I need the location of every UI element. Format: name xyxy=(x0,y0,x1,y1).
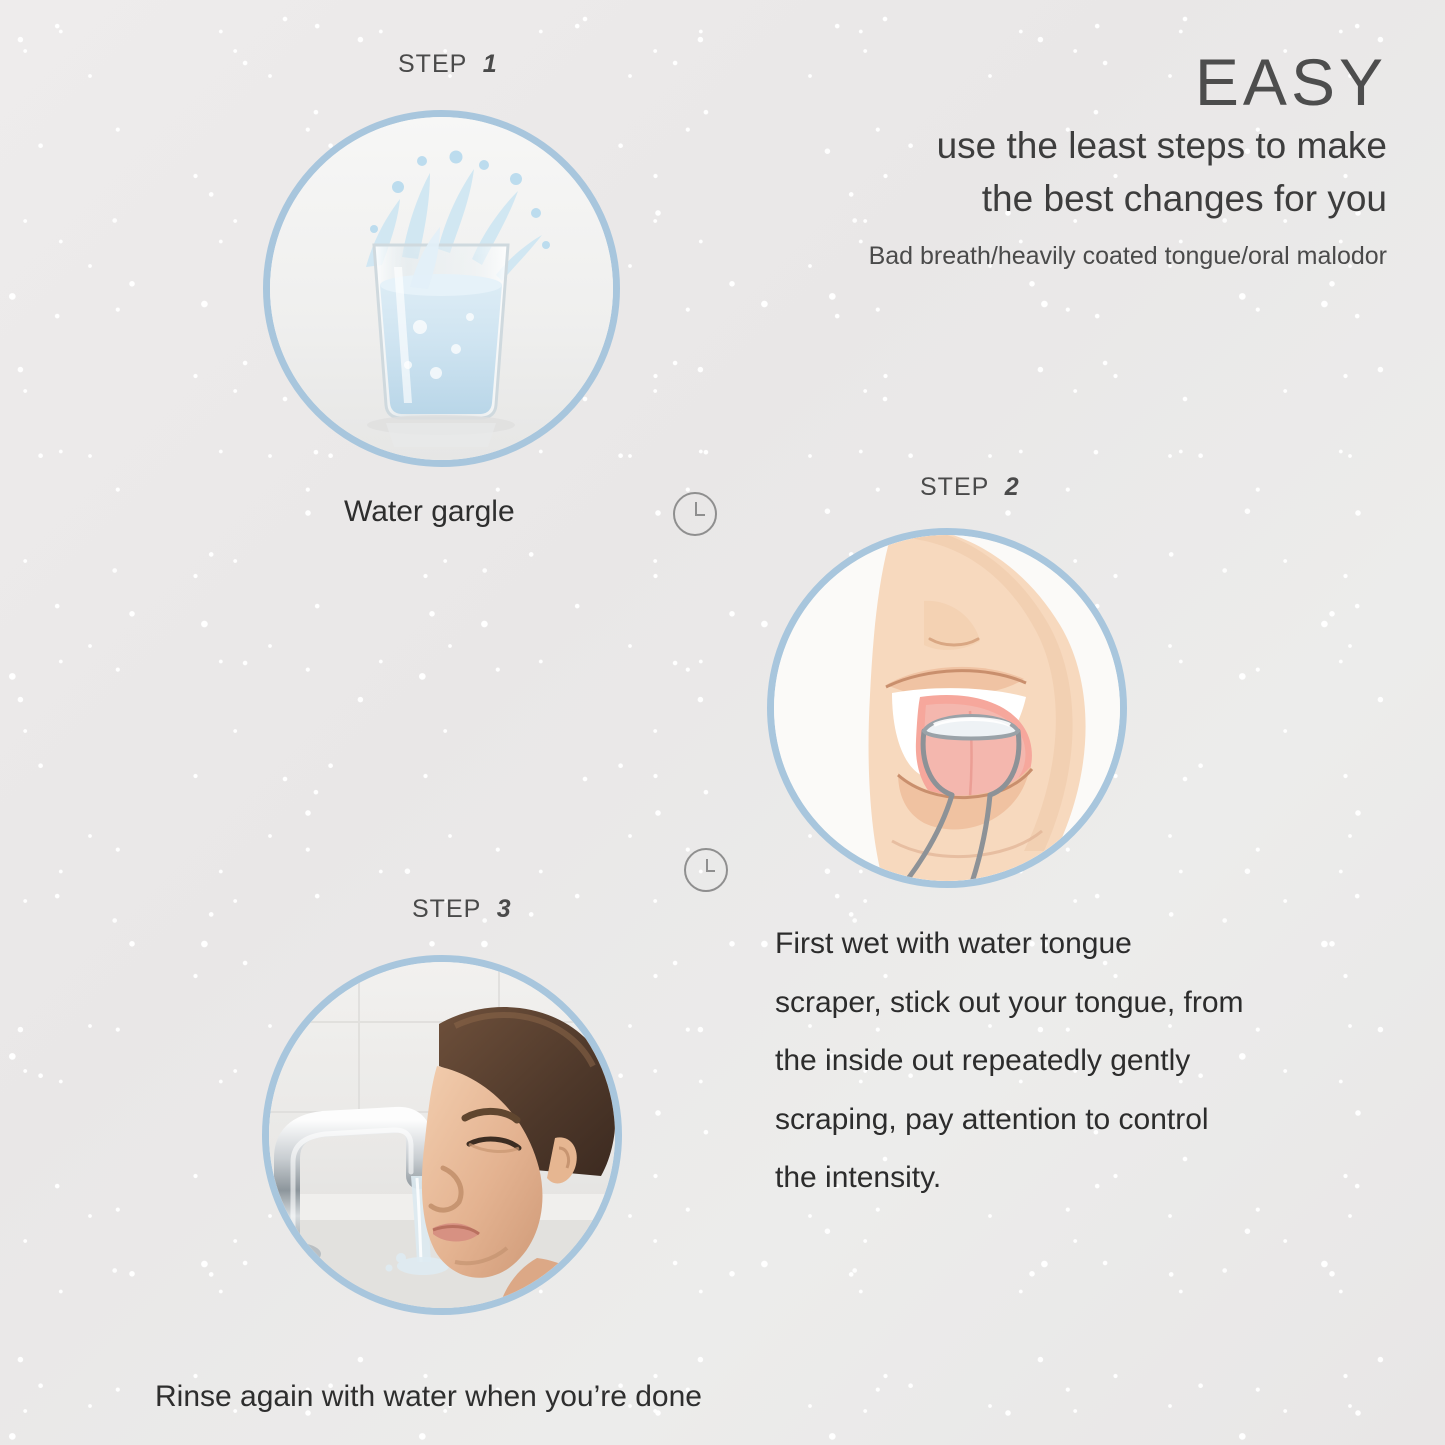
step-3-label-prefix: STEP xyxy=(412,895,481,923)
step-2-paragraph: First wet with water tongue scraper, sti… xyxy=(775,915,1245,1208)
step-1-label: STEP 1 xyxy=(398,50,498,79)
step-3-label-number: 3 xyxy=(497,895,512,923)
step-3-image-circle xyxy=(262,955,622,1315)
tongue-scraper-illustration xyxy=(774,535,1120,881)
step-2-label-prefix: STEP xyxy=(920,473,989,501)
headline-block: EASY use the least steps to make the bes… xyxy=(667,48,1387,271)
step-3-caption: Rinse again with water when you’re done xyxy=(155,1380,702,1414)
headline-note: Bad breath/heavily coated tongue/oral ma… xyxy=(667,242,1387,271)
step-1-label-prefix: STEP xyxy=(398,50,467,78)
step-3-label: STEP 3 xyxy=(412,895,512,924)
glass-of-water-splash-photo xyxy=(270,117,613,460)
step-2-image-circle xyxy=(767,528,1127,888)
clock-icon-2 xyxy=(684,848,728,892)
headline-subtitle-line2: the best changes for you xyxy=(667,176,1387,222)
person-rinsing-at-faucet-photo xyxy=(269,962,615,1308)
step-1-label-number: 1 xyxy=(483,50,498,78)
step-1-image-circle xyxy=(263,110,620,467)
step-2-label: STEP 2 xyxy=(920,473,1020,502)
clock-icon-1 xyxy=(673,492,717,536)
page-title: EASY xyxy=(667,48,1387,117)
headline-subtitle-line1: use the least steps to make xyxy=(667,123,1387,169)
step-1-caption: Water gargle xyxy=(344,495,515,529)
step-2-label-number: 2 xyxy=(1005,473,1020,501)
